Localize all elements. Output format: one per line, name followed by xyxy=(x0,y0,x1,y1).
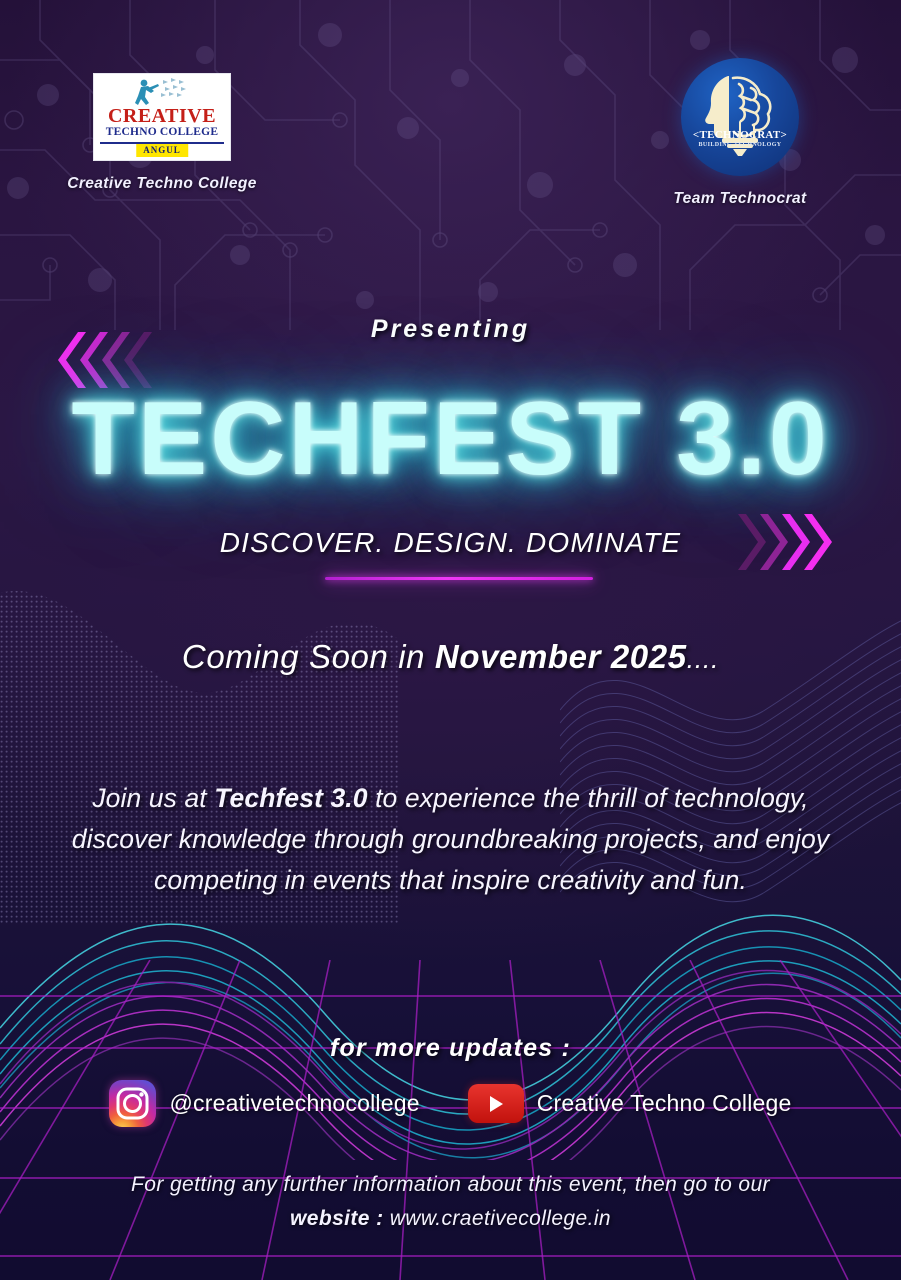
youtube-channel-name: Creative Techno College xyxy=(537,1090,792,1117)
poster-header: CREATIVE TECHNO COLLEGE ANGUL Creative T… xyxy=(0,0,901,230)
technocrat-badge-subtext: BUILDING TECHNOLOGY xyxy=(681,142,799,148)
youtube-link[interactable]: Creative Techno College xyxy=(468,1084,792,1123)
technocrat-logo-caption: Team Technocrat xyxy=(640,190,840,208)
event-poster: CREATIVE TECHNO COLLEGE ANGUL Creative T… xyxy=(0,0,901,1280)
college-logo-caption: Creative Techno College xyxy=(47,175,277,193)
footer-website-label: website xyxy=(290,1207,370,1230)
footer-separator: : xyxy=(370,1207,390,1230)
technocrat-badge-text: <TECHNOCRAT> xyxy=(681,130,799,141)
footer-line1: For getting any further information abou… xyxy=(131,1173,770,1196)
logo-word-techno-college: TECHNO COLLEGE xyxy=(94,127,230,139)
logo-word-creative: CREATIVE xyxy=(94,106,230,126)
social-links: @creativetechnocollege Creative Techno C… xyxy=(0,1080,901,1127)
youtube-icon xyxy=(468,1084,524,1123)
instagram-link[interactable]: @creativetechnocollege xyxy=(109,1080,419,1127)
head-brain-bulb-icon xyxy=(681,58,799,176)
updates-heading: for more updates : xyxy=(0,1034,901,1063)
event-description: Join us at Techfest 3.0 to experience th… xyxy=(68,778,833,901)
description-brand: Techfest 3.0 xyxy=(214,783,367,813)
footer-info: For getting any further information abou… xyxy=(55,1168,846,1235)
description-lead: Join us at xyxy=(92,783,214,813)
instagram-icon xyxy=(109,1080,156,1127)
play-icon xyxy=(486,1093,506,1115)
creative-techno-college-logo: CREATIVE TECHNO COLLEGE ANGUL xyxy=(93,73,231,161)
footer-website-url[interactable]: www.craetivecollege.in xyxy=(390,1207,611,1230)
coming-soon-date: November 2025 xyxy=(435,638,687,675)
event-tagline: DISCOVER. DESIGN. DOMINATE xyxy=(0,527,901,559)
coming-soon-suffix: .... xyxy=(687,644,719,674)
technocrat-logo-block: <TECHNOCRAT> BUILDING TECHNOLOGY Team Te… xyxy=(640,58,840,208)
instagram-handle: @creativetechnocollege xyxy=(169,1090,419,1117)
coming-soon-prefix: Coming Soon in xyxy=(182,638,435,675)
team-technocrat-logo: <TECHNOCRAT> BUILDING TECHNOLOGY xyxy=(681,58,799,176)
logo-city-angul: ANGUL xyxy=(136,144,188,157)
event-title: TECHFEST 3.0 xyxy=(0,385,901,494)
tagline-divider xyxy=(325,577,593,580)
coming-soon-line: Coming Soon in November 2025.... xyxy=(0,638,901,676)
college-logo-block: CREATIVE TECHNO COLLEGE ANGUL Creative T… xyxy=(47,73,277,193)
